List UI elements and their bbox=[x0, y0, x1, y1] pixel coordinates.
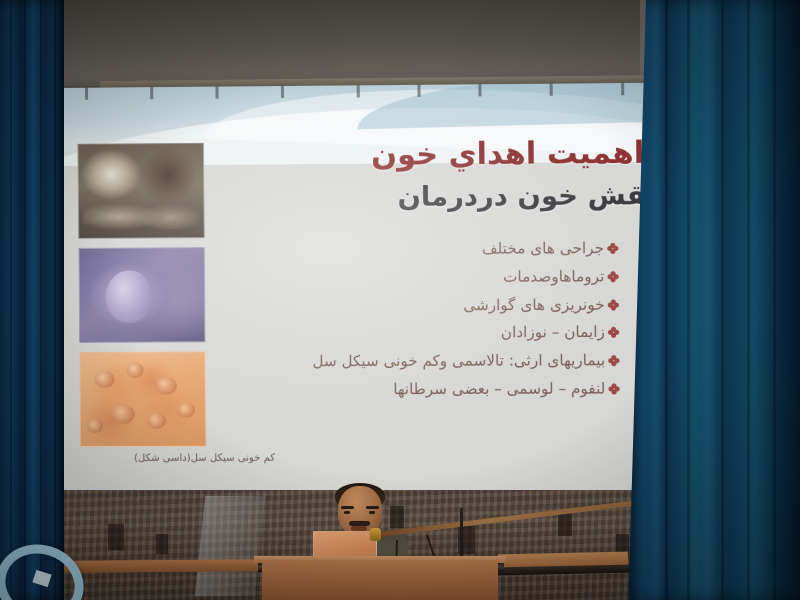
photo-stage: کم خونی سیکل سل(داسی شکل) اهميت اهداي خو… bbox=[0, 0, 800, 600]
curtain-left bbox=[0, 0, 64, 600]
projection-screen: کم خونی سیکل سل(داسی شکل) اهميت اهداي خو… bbox=[55, 83, 670, 492]
slide-bullet-item: خونریزی های گوارشی bbox=[93, 295, 619, 316]
slide-bullet-item: لنفوم – لوسمی – بعضی سرطانها bbox=[94, 379, 620, 399]
slide-bullet-item: زایمان – نوزادان bbox=[93, 323, 619, 344]
bullet-text: تروماهاوصدمات bbox=[503, 267, 604, 286]
slide-title: اهميت اهداي خون bbox=[208, 135, 645, 173]
stage-ledge-left bbox=[60, 559, 268, 572]
podium bbox=[262, 560, 498, 600]
slide-image-caption: کم خونی سیکل سل(داسی شکل) bbox=[74, 453, 275, 464]
bullet-text: لنفوم – لوسمی – بعضی سرطانها bbox=[393, 379, 605, 398]
slide-bullet-item: تروماهاوصدمات bbox=[93, 267, 619, 288]
microphone-icon bbox=[370, 528, 381, 541]
bullet-text: زایمان – نوزادان bbox=[501, 323, 605, 342]
bullet-diamond-icon bbox=[608, 383, 619, 394]
bullet-diamond-icon bbox=[608, 299, 619, 310]
slide-bullet-item: بیماریهای ارثی: تالاسمی وکم خونی سیکل سل bbox=[93, 351, 619, 372]
bullet-diamond-icon bbox=[607, 271, 618, 282]
slide-bullet-list: جراحی های مختلف تروماهاوصدمات خونریزی ها… bbox=[92, 239, 660, 409]
bullet-text: بیماریهای ارثی: تالاسمی وکم خونی سیکل سل bbox=[312, 351, 605, 370]
bullet-diamond-icon bbox=[608, 327, 619, 338]
bullet-text: خونریزی های گوارشی bbox=[463, 295, 605, 314]
bullet-diamond-icon bbox=[607, 243, 618, 254]
slide-bullet-item: جراحی های مختلف bbox=[92, 239, 618, 261]
slide-image-surgery bbox=[77, 143, 204, 239]
bullet-diamond-icon bbox=[608, 355, 619, 366]
curtain-right bbox=[625, 0, 800, 600]
slide-subtitle: نقش خون دردرمان bbox=[210, 180, 657, 214]
bullet-text: جراحی های مختلف bbox=[482, 239, 604, 258]
